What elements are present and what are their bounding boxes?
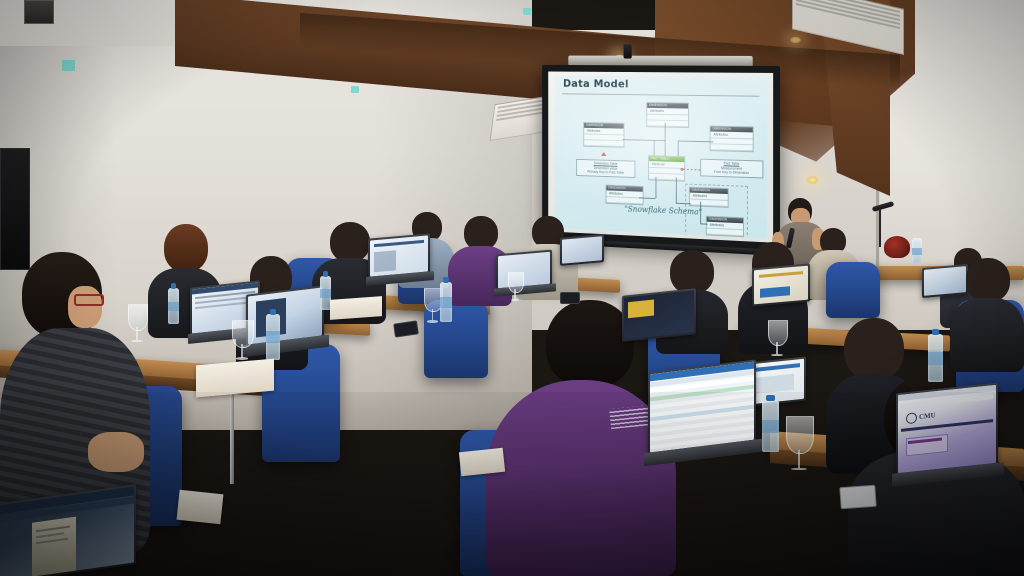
water-bottle bbox=[928, 334, 943, 382]
callout-left-arrow bbox=[601, 152, 606, 156]
slide-title-rule bbox=[562, 93, 759, 96]
connector-br-v bbox=[676, 177, 677, 202]
snowflake-schema-caption: "Snowflake Schema" bbox=[624, 205, 702, 217]
laptop-screen bbox=[754, 266, 808, 305]
printed-handout bbox=[330, 296, 382, 320]
laptop-mid bbox=[368, 236, 430, 286]
dimension-table-bottom-right: DIMENSION Attributes bbox=[689, 187, 729, 208]
microphone-stand bbox=[879, 209, 881, 247]
connector-right-v bbox=[678, 141, 679, 157]
laptop-center bbox=[496, 252, 552, 296]
connector-right-h bbox=[678, 141, 714, 143]
wall-frame bbox=[24, 0, 54, 24]
laptop-lid bbox=[622, 288, 696, 342]
laptop-screen bbox=[624, 290, 694, 339]
laptop-lid bbox=[752, 263, 810, 306]
ceiling-downlight-2 bbox=[806, 176, 819, 184]
laptop-screen bbox=[370, 235, 428, 276]
water-bottle bbox=[440, 282, 452, 322]
head bbox=[464, 216, 498, 250]
wine-glass bbox=[128, 304, 146, 344]
water-bottle bbox=[266, 314, 280, 360]
screen-canvas: Data Model DIMENSION Attributes DIMENSIO… bbox=[548, 72, 773, 243]
wall-marker-1 bbox=[62, 60, 75, 71]
bottle-on-back-table bbox=[912, 238, 922, 264]
eyeglasses bbox=[74, 294, 104, 306]
wine-glass bbox=[424, 288, 441, 324]
laptop-screen bbox=[562, 236, 602, 263]
callout-right-line3: Fore Key to Dimension bbox=[703, 170, 760, 176]
flower-arrangement bbox=[884, 236, 910, 258]
slide-title: Data Model bbox=[563, 77, 629, 90]
dimension-table-left: DIMENSION Attributes bbox=[583, 122, 624, 148]
dimension-table-right: DIMENSION Attributes bbox=[710, 126, 754, 153]
laptop-left-row-2 bbox=[246, 290, 324, 356]
dimension-table-top: DIMENSION Attributes bbox=[646, 102, 689, 128]
presentation-slide: Data Model DIMENSION Attributes DIMENSIO… bbox=[555, 75, 767, 238]
dimension-table-bottom-left: DIMENSION Attributes bbox=[606, 185, 644, 206]
callout-dimension-table: Dimension Table Dimension value Primary … bbox=[576, 159, 635, 178]
torso bbox=[950, 298, 1024, 372]
connector-left-v bbox=[654, 140, 655, 156]
head bbox=[670, 250, 714, 294]
wall-marker-3 bbox=[351, 86, 359, 93]
ceiling-downlight-3 bbox=[789, 36, 802, 44]
callout-right-dot bbox=[681, 168, 684, 171]
water-bottle bbox=[168, 288, 179, 324]
wine-glass bbox=[232, 320, 252, 362]
dimension-table-sub: DIMENSION Attributes bbox=[706, 216, 744, 237]
laptop-lid bbox=[560, 234, 604, 266]
connector-top bbox=[665, 123, 666, 156]
connector-left-h bbox=[623, 139, 665, 141]
wine-glass bbox=[508, 272, 522, 302]
wine-glass bbox=[768, 320, 786, 358]
participant-right-4 bbox=[950, 258, 1024, 368]
callout-left-line3: Primary Key to Fact Table bbox=[579, 170, 633, 176]
chair bbox=[826, 262, 880, 318]
wall-marker-2 bbox=[523, 8, 531, 15]
mobile-phone bbox=[560, 292, 580, 304]
head-hair bbox=[546, 300, 634, 388]
laptop-screen bbox=[498, 252, 550, 289]
head bbox=[966, 258, 1010, 302]
seminar-room-photo: Data Model DIMENSION Attributes DIMENSIO… bbox=[0, 0, 1024, 576]
face bbox=[68, 286, 102, 328]
connector-br-h bbox=[676, 203, 691, 205]
laptop-center-2 bbox=[560, 236, 604, 272]
head-hair bbox=[164, 224, 208, 272]
laptop-right-2 bbox=[752, 266, 810, 314]
floor-shading bbox=[0, 392, 1024, 576]
head bbox=[844, 318, 904, 380]
callout-fact-table: Fact Table Measurement Fore Key to Dimen… bbox=[700, 159, 763, 179]
callout-right-dashline bbox=[683, 169, 702, 171]
connector-bl-v bbox=[656, 177, 657, 198]
head bbox=[330, 222, 370, 262]
laptop-right-row bbox=[622, 292, 696, 350]
projector-lens bbox=[624, 44, 632, 58]
